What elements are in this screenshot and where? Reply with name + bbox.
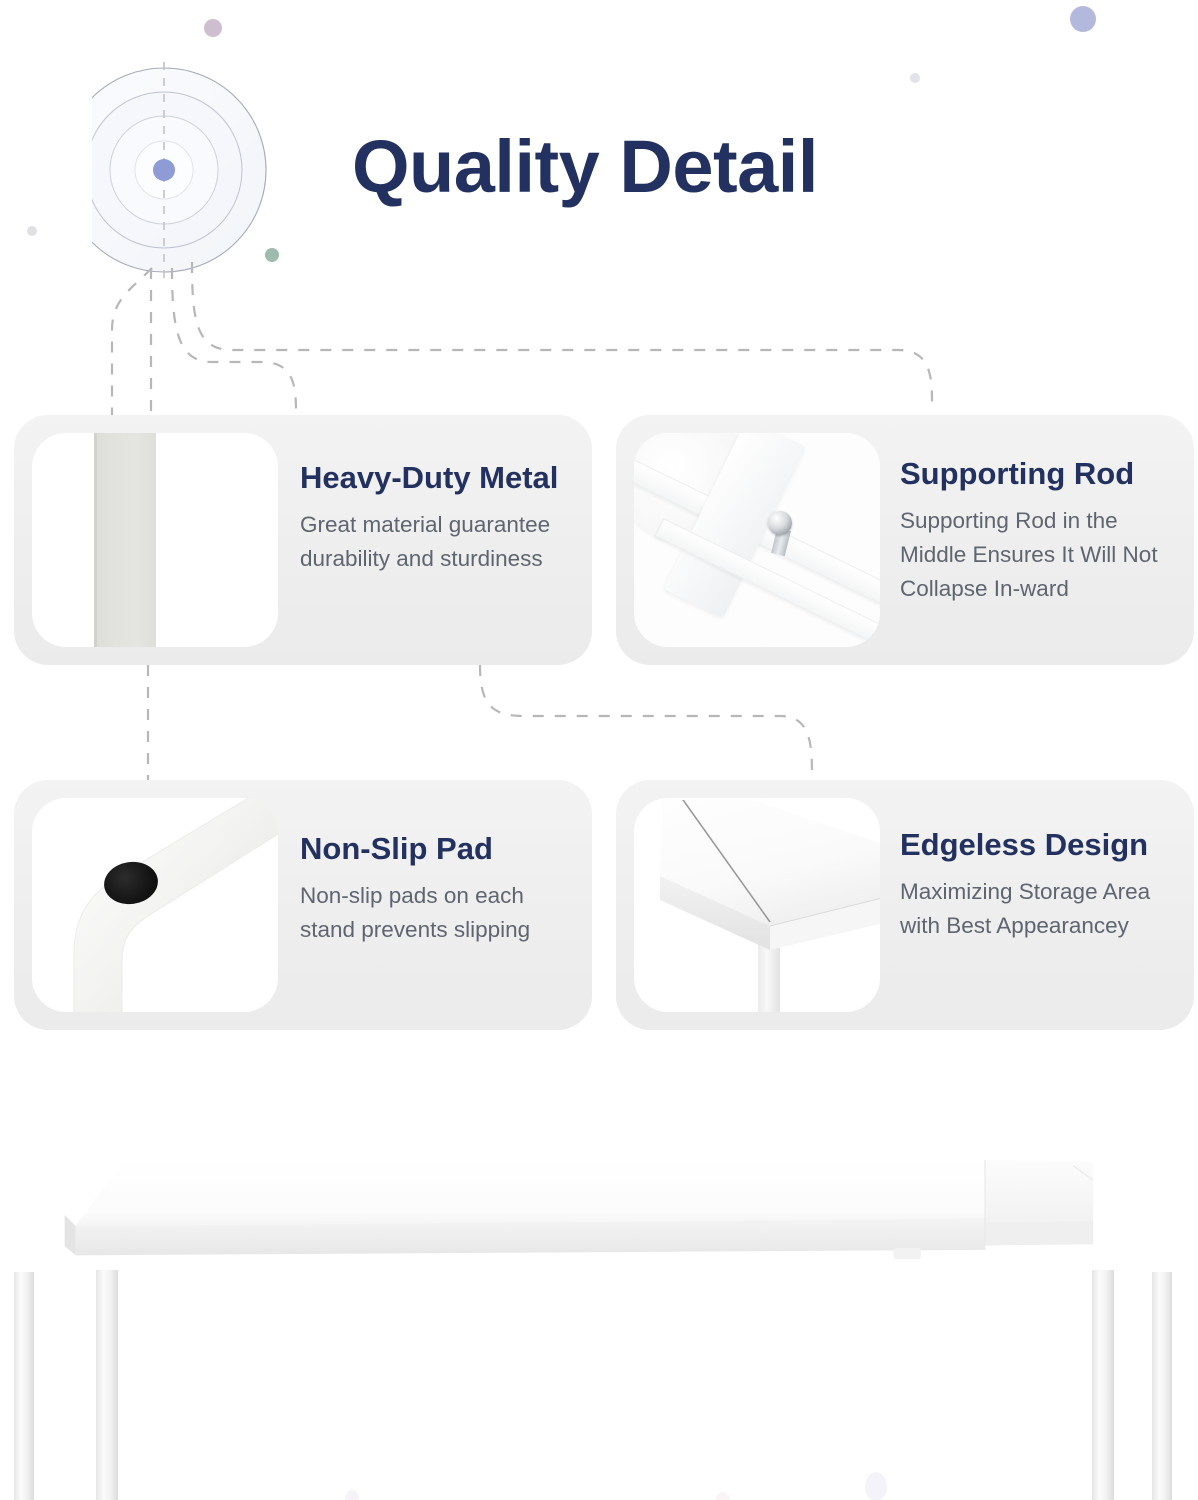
card-desc-line-1: Maximizing Storage Area [900, 875, 1178, 909]
supporting-rod-photo [634, 433, 880, 647]
expandable-shelf-riser-photo [0, 1100, 1198, 1500]
card-desc-line-1: Supporting Rod in the [900, 504, 1178, 538]
dot-gray-left [27, 226, 37, 236]
hero-leg-front-left [96, 1270, 118, 1500]
page-title: Quality Detail [352, 124, 818, 209]
card-text-block: Edgeless Design Maximizing Storage Area … [880, 780, 1194, 1030]
card-title: Edgeless Design [900, 828, 1178, 862]
card-title: Non-Slip Pad [300, 832, 576, 866]
hero-leg-front-right [1092, 1270, 1114, 1500]
card-desc-line-2: Middle Ensures It Will Not [900, 538, 1178, 572]
radar-target-icon [92, 52, 302, 287]
card-desc-line-1: Great material guarantee [300, 508, 576, 542]
card-desc-line-2: durability and sturdiness [300, 542, 576, 576]
metal-bar-photo [32, 433, 278, 647]
leg-shape [52, 798, 278, 1012]
quality-detail-infographic: Quality Detail Heavy-Duty Metal Great ma… [0, 0, 1198, 1500]
card-text-block: Heavy-Duty Metal Great material guarante… [278, 415, 592, 665]
feature-card-supporting-rod[interactable]: Supporting Rod Supporting Rod in the Mid… [616, 415, 1194, 665]
dot-lightgray-small [910, 73, 920, 83]
feature-card-heavy-duty-metal[interactable]: Heavy-Duty Metal Great material guarante… [14, 415, 592, 665]
hero-bokeh-dot-3 [865, 1472, 887, 1500]
card-title: Supporting Rod [900, 457, 1178, 491]
hero-leg-back-right [1152, 1272, 1172, 1500]
card-desc-line-1: Non-slip pads on each [300, 879, 576, 913]
card-text-block: Non-Slip Pad Non-slip pads on each stand… [278, 780, 592, 1030]
shelf-corner-shape [634, 800, 880, 950]
card-title: Heavy-Duty Metal [300, 461, 576, 495]
hero-bokeh-dot-1 [345, 1490, 359, 1500]
card-text-block: Supporting Rod Supporting Rod in the Mid… [880, 415, 1194, 665]
dot-periwinkle-topright [1070, 6, 1096, 32]
non-slip-pad-photo [32, 798, 278, 1012]
metal-bar-shape [94, 433, 156, 647]
hero-bokeh-dot-2 [716, 1492, 730, 1500]
screw-head-icon [768, 511, 792, 535]
card-desc-line-2: with Best Appearancey [900, 909, 1178, 943]
feature-card-non-slip-pad[interactable]: Non-Slip Pad Non-slip pads on each stand… [14, 780, 592, 1030]
dot-mauve-top [204, 19, 222, 37]
card-desc-line-3: Collapse In-ward [900, 572, 1178, 606]
edgeless-corner-photo [634, 798, 880, 1012]
hero-shelf-top [12, 1160, 1144, 1270]
hero-leg-back-left [14, 1272, 34, 1500]
card-desc-line-2: stand prevents slipping [300, 913, 576, 947]
feature-card-edgeless-design[interactable]: Edgeless Design Maximizing Storage Area … [616, 780, 1194, 1030]
